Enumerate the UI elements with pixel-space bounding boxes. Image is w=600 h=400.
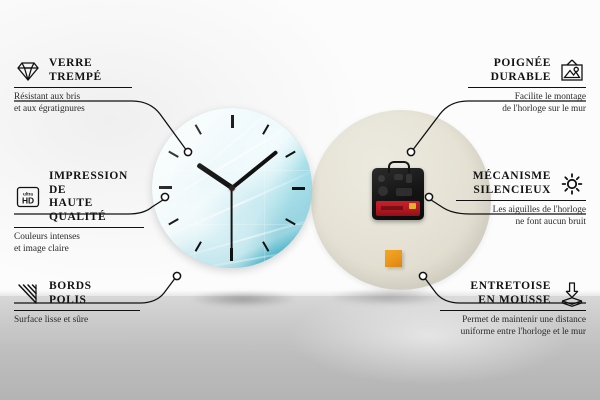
- clock-front-face: [152, 108, 312, 268]
- callout-divider: [468, 87, 586, 88]
- callout-entretoise-en-mousse[interactable]: ENTRETOISE EN MOUSSE Permet de maintenir…: [440, 280, 586, 338]
- callout-title: VERRE TREMPÉ: [49, 57, 102, 84]
- callout-header: ultra HD IMPRESSION DE HAUTE QUALITÉ: [14, 170, 144, 224]
- battery: [376, 201, 420, 216]
- callout-desc-line1: Surface lisse et sûre: [14, 315, 140, 326]
- mechanism-vent-b: [406, 174, 412, 183]
- infographic-stage: VERRE TREMPÉ Résistant aux bris et aux é…: [0, 0, 600, 400]
- callout-desc-line1: Permet de maintenir une distance: [440, 315, 586, 326]
- diamond-icon: [14, 58, 42, 84]
- callout-desc-line1: Facilite le montage: [468, 92, 586, 103]
- callout-desc-line2: et aux égratignures: [14, 104, 132, 115]
- callout-title: IMPRESSION DE HAUTE QUALITÉ: [49, 170, 144, 224]
- foam-spacer: [385, 250, 402, 267]
- callout-divider: [456, 200, 586, 201]
- gear-icon: [558, 171, 586, 197]
- callout-desc-line1: Les aiguilles de l'horloge: [456, 205, 586, 216]
- callout-desc-line1: Résistant aux bris: [14, 92, 132, 103]
- callout-title: POIGNÉE DURABLE: [491, 57, 551, 84]
- callout-desc-line1: Couleurs intenses: [14, 232, 144, 243]
- callout-header: ENTRETOISE EN MOUSSE: [440, 280, 586, 307]
- polished-edge-icon: [14, 281, 42, 307]
- mechanism-vent-a: [394, 174, 403, 180]
- ultra-hd-icon: ultra HD: [14, 184, 42, 210]
- mechanism-knob: [378, 175, 385, 182]
- callout-desc-line2: uniforme entre l'horloge et le mur: [440, 327, 586, 338]
- front-clock-shadow: [168, 288, 318, 310]
- picture-hanger-icon: [558, 58, 586, 84]
- callout-header: VERRE TREMPÉ: [14, 57, 132, 84]
- callout-desc-line2: et image claire: [14, 244, 144, 255]
- callout-divider: [14, 227, 144, 228]
- callout-mecanisme-silencieux[interactable]: MÉCANISME SILENCIEUX Les aiguilles de l'…: [456, 170, 586, 228]
- callout-divider: [14, 310, 140, 311]
- callout-desc-line2: ne font aucun bruit: [456, 217, 586, 228]
- callout-header: BORDS POLIS: [14, 280, 140, 307]
- callout-impression-haute-qualite[interactable]: ultra HD IMPRESSION DE HAUTE QUALITÉ Cou…: [14, 170, 144, 255]
- callout-verre-trempe[interactable]: VERRE TREMPÉ Résistant aux bris et aux é…: [14, 57, 132, 115]
- mechanism-label-plate: [396, 188, 412, 196]
- mechanism-hanger-tab: [388, 161, 410, 173]
- clock-mechanism: [372, 168, 424, 220]
- callout-poignee-durable[interactable]: POIGNÉE DURABLE Facilite le montage de l…: [468, 57, 586, 115]
- callout-bords-polis[interactable]: BORDS POLIS Surface lisse et sûre: [14, 280, 140, 327]
- mechanism-dial: [378, 186, 388, 196]
- callout-title: BORDS POLIS: [49, 280, 92, 307]
- callout-header: POIGNÉE DURABLE: [468, 57, 586, 84]
- second-hand: [231, 188, 233, 250]
- hands-center-cap: [229, 185, 235, 191]
- callout-title: ENTRETOISE EN MOUSSE: [470, 280, 551, 307]
- callout-desc-line2: de l'horloge sur le mur: [468, 104, 586, 115]
- callout-divider: [14, 87, 132, 88]
- callout-title: MÉCANISME SILENCIEUX: [473, 170, 551, 197]
- foam-spacer-icon: [558, 281, 586, 307]
- svg-text:HD: HD: [22, 196, 34, 206]
- callout-header: MÉCANISME SILENCIEUX: [456, 170, 586, 197]
- callout-divider: [440, 310, 586, 311]
